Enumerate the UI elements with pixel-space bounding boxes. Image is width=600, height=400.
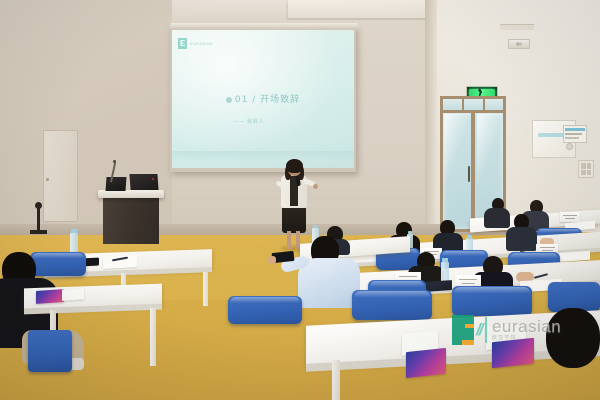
switch-key-2[interactable] (587, 163, 592, 169)
projection-screen: E EURASIAN 01 / 开场致辞 —— 致辞人 (172, 30, 354, 168)
ceiling-vent (500, 24, 534, 30)
door-pane-glare-left (444, 114, 470, 184)
smoke-detector-label: 烟感 (509, 40, 529, 48)
door-handle[interactable] (468, 166, 470, 182)
chair-highlight (354, 291, 430, 303)
slide-separator: / (252, 95, 256, 105)
bottle-cap (467, 235, 472, 239)
conference-room-photo: E EURASIAN 01 / 开场致辞 —— 致辞人 烟感 (0, 0, 600, 400)
wall-certificate-line-1 (565, 133, 582, 135)
switch-key-3[interactable] (581, 170, 586, 176)
slide-logo-text: EURASIAN (190, 41, 213, 46)
switch-key-1[interactable] (581, 163, 586, 169)
equipment-stand-base (30, 230, 47, 234)
podium-monitor-left[interactable] (106, 177, 127, 191)
brochure (406, 348, 446, 378)
name-card (560, 212, 580, 222)
door-pane-glare-right (477, 114, 503, 184)
podium-top-surface (98, 190, 164, 198)
side-door-handle[interactable] (46, 178, 49, 181)
bottle-cap (71, 229, 77, 233)
slide-logo: E EURASIAN (178, 38, 213, 49)
podium (103, 196, 159, 244)
switch-key-4[interactable] (587, 170, 592, 176)
chair-highlight (32, 253, 84, 263)
projection-screen-roller (170, 23, 358, 30)
microphone-head-icon (113, 160, 116, 163)
smoke-detector-icon: 烟感 (508, 39, 530, 49)
brochure (492, 338, 534, 368)
bottle-cap (442, 258, 448, 262)
chair-highlight (510, 253, 558, 263)
audience-body (506, 227, 537, 251)
table-leg (203, 272, 208, 306)
table-leg (332, 360, 340, 400)
chair-highlight (442, 251, 486, 260)
screen-bottom-band (172, 151, 354, 160)
chair-highlight (230, 297, 300, 308)
audience-head (546, 308, 600, 368)
slide-subtitle: —— 致辞人 (172, 118, 354, 125)
wall-panel-label (538, 133, 564, 137)
side-door[interactable] (43, 130, 78, 222)
bottle-cap (408, 231, 412, 234)
audience-body (484, 208, 510, 228)
table-leg (150, 308, 156, 366)
speaker-skirt (282, 205, 306, 233)
paper-sheet (62, 288, 84, 301)
wall-panel-latch[interactable] (566, 143, 573, 150)
door-center-mullion (471, 110, 475, 232)
light-switch-panel[interactable] (578, 160, 594, 178)
podium-monitor-right[interactable] (129, 174, 158, 190)
brochure (36, 289, 64, 304)
slide-bullet-icon (226, 97, 232, 103)
wall-certificate-line-2 (565, 137, 579, 139)
chair-highlight (454, 287, 530, 299)
photographer-hand (268, 256, 276, 264)
speaker-leg-left (287, 231, 291, 249)
chair[interactable] (28, 330, 72, 372)
bottle-cap (313, 225, 318, 228)
speaker-hand-right (313, 184, 318, 189)
slide-number: 01 (235, 95, 248, 105)
slide-title: 开场致辞 (260, 95, 300, 105)
slide-logo-mark: E (178, 38, 187, 49)
speaker-hair (286, 159, 303, 173)
wall-certificate-header (565, 128, 585, 131)
slide-title-line: 01 / 开场致辞 (172, 92, 354, 105)
monitor-power-led (152, 178, 154, 180)
